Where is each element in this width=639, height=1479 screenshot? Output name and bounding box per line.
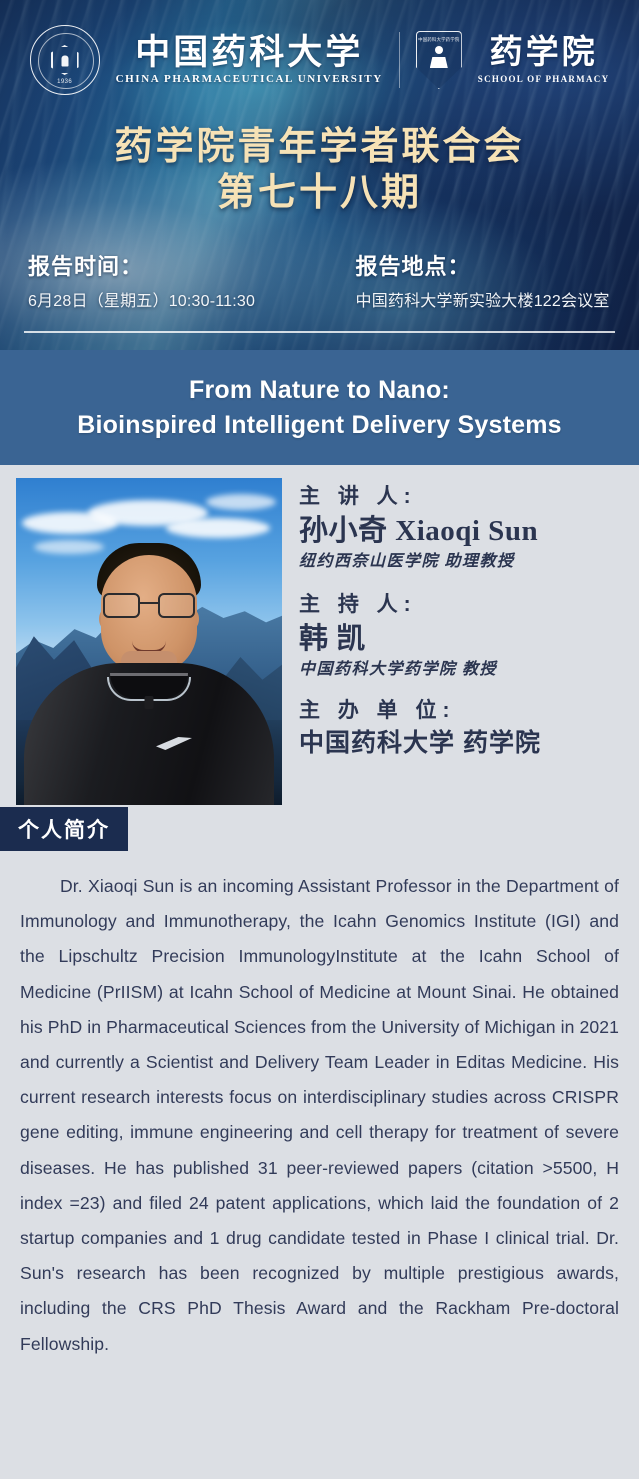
speaker-section: 主 讲 人: 孙小奇 Xiaoqi Sun 纽约西奈山医学院 助理教授 主 持 … [0,465,639,807]
photo-glasses-bridge [140,602,158,604]
speaker-info: 主 讲 人: 孙小奇 Xiaoqi Sun 纽约西奈山医学院 助理教授 主 持 … [282,478,639,807]
logo-divider [399,32,400,88]
speaker-name: 孙小奇 Xiaoqi Sun [299,512,639,550]
seminar-poster: 1936 中国药科大学 CHINA PHARMACEUTICAL UNIVERS… [0,0,639,1479]
host-label: 主 持 人: [299,590,639,620]
photo-person-cord-tag [145,696,154,709]
school-shield-icon: 中国药科大学药学院 [416,31,462,89]
host-name: 韩 凯 [299,620,639,658]
host-affiliation: 中国药科大学药学院 教授 [299,658,639,682]
event-time-block: 报告时间： 6月28日（星期五）10:30-11:30 [28,252,320,313]
bio-section-tag: 个人简介 [0,807,128,851]
talk-title: From Nature to Nano: Bioinspired Intelli… [77,373,562,443]
talk-title-banner: From Nature to Nano: Bioinspired Intelli… [0,350,639,465]
event-time-label: 报告时间： [28,252,320,282]
spacer [299,682,639,696]
school-name-cn: 药学院 [490,37,598,70]
bio-section-tag-label: 个人简介 [18,814,110,844]
header-rule [24,331,615,333]
event-place-block: 报告地点： 中国药科大学新实验大楼122会议室 [320,252,612,313]
event-title-line2: 第七十八期 [0,170,639,216]
spacer [299,574,639,590]
talk-title-line2: Bioinspired Intelligent Delivery Systems [77,408,562,443]
university-name-en: CHINA PHARMACEUTICAL UNIVERSITY [116,73,383,85]
speaker-affiliation: 纽约西奈山医学院 助理教授 [299,550,639,574]
organizer-label: 主 办 单 位: [299,696,639,726]
event-time-value: 6月28日（星期五）10:30-11:30 [28,291,320,313]
event-title: 药学院青年学者联合会 第七十八期 [0,124,639,216]
event-meta: 报告时间： 6月28日（星期五）10:30-11:30 报告地点： 中国药科大学… [0,252,639,313]
school-name-en: SCHOOL OF PHARMACY [478,74,610,84]
poster-header: 1936 中国药科大学 CHINA PHARMACEUTICAL UNIVERS… [0,0,639,350]
photo-glasses-lens [103,593,140,618]
event-place-value: 中国药科大学新实验大楼122会议室 [356,291,612,313]
university-name-cn: 中国药科大学 [135,35,363,70]
speaker-label: 主 讲 人: [299,482,639,512]
photo-person-glasses-icon [103,593,195,619]
organizer-name: 中国药科大学 药学院 [299,726,639,760]
event-title-line1: 药学院青年学者联合会 [0,124,639,170]
university-name-block: 中国药科大学 CHINA PHARMACEUTICAL UNIVERSITY [116,35,383,85]
seal-hexagon-mark-icon [51,45,79,75]
photo-glasses-lens [158,593,195,618]
shield-figure-icon [430,46,448,68]
university-seal-icon: 1936 [30,25,100,95]
logo-row: 1936 中国药科大学 CHINA PHARMACEUTICAL UNIVERS… [0,22,639,98]
talk-title-line1: From Nature to Nano: [77,373,562,408]
shield-top-text: 中国药科大学药学院 [417,37,461,43]
seal-year: 1936 [31,79,99,85]
photo-cloud [206,494,276,510]
bio-text: Dr. Xiaoqi Sun is an incoming Assistant … [0,851,639,1376]
school-name-block: 药学院 SCHOOL OF PHARMACY [478,37,610,84]
event-place-label: 报告地点： [356,252,612,282]
photo-cloud [34,540,104,554]
speaker-photo [16,478,282,805]
photo-cloud [166,518,270,538]
